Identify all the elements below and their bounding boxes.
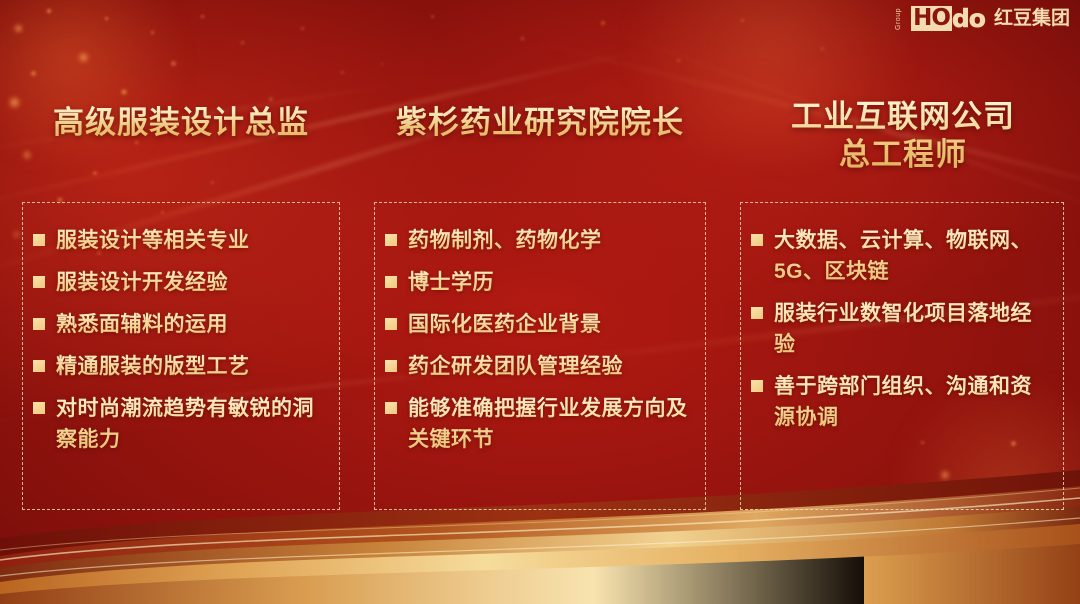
brand-logo: Group HO do 红豆集团	[895, 6, 1070, 31]
square-bullet-icon	[385, 318, 397, 330]
requirement-text: 国际化医药企业背景	[408, 309, 602, 340]
requirement-item: 能够准确把握行业发展方向及关键环节	[385, 393, 695, 455]
square-bullet-icon	[33, 360, 45, 372]
requirement-text: 能够准确把握行业发展方向及关键环节	[408, 393, 695, 455]
logo-group-text: Group	[895, 8, 902, 30]
requirement-text: 服装行业数智化项目落地经验	[774, 298, 1053, 360]
requirement-item: 精通服装的版型工艺	[33, 351, 329, 382]
requirements-list-1: 服装设计等相关专业服装设计开发经验熟悉面辅料的运用精通服装的版型工艺 对时尚潮流…	[33, 225, 329, 455]
requirement-text: 善于跨部门组织、沟通和资源协调	[774, 371, 1053, 433]
requirement-item: 服装行业数智化项目落地经验	[751, 298, 1053, 360]
square-bullet-icon	[751, 380, 763, 392]
square-bullet-icon	[751, 307, 763, 319]
requirement-item: 对时尚潮流趋势有敏锐的洞察能力	[33, 393, 329, 455]
requirement-item: 服装设计等相关专业	[33, 225, 329, 256]
sparkle-particle	[974, 584, 980, 590]
slide-canvas: Group HO do 红豆集团 高级服装设计总监 紫杉药业研究院院长 工业互联…	[0, 0, 1080, 604]
column-title-1: 高级服装设计总监	[22, 104, 340, 142]
requirement-text: 大数据、云计算、物联网、5G、区块链	[774, 225, 1053, 287]
requirement-item: 善于跨部门组织、沟通和资源协调	[751, 371, 1053, 433]
square-bullet-icon	[33, 234, 45, 246]
requirement-item: 药物制剂、药物化学	[385, 225, 695, 256]
square-bullet-icon	[385, 276, 397, 288]
requirement-text: 服装设计开发经验	[56, 267, 228, 298]
square-bullet-icon	[751, 234, 763, 246]
requirement-item: 博士学历	[385, 267, 695, 298]
requirement-text: 精通服装的版型工艺	[56, 351, 250, 382]
requirement-item: 药企研发团队管理经验	[385, 351, 695, 382]
requirement-text: 博士学历	[408, 267, 494, 298]
requirements-panel-2: 药物制剂、药物化学博士学历国际化医药企业背景药企研发团队管理经验 能够准确把握行…	[374, 202, 706, 510]
logo-company-name-cn: 红豆集团	[994, 6, 1070, 31]
logo-hodo-mark: HO do	[911, 6, 985, 31]
square-bullet-icon	[385, 234, 397, 246]
column-title-2: 紫杉药业研究院院长	[374, 104, 706, 142]
square-bullet-icon	[385, 402, 397, 414]
requirements-panel-3: 大数据、云计算、物联网、5G、区块链 服装行业数智化项目落地经验 善于跨部门组织…	[740, 202, 1064, 510]
requirement-text: 对时尚潮流趋势有敏锐的洞察能力	[56, 393, 329, 455]
requirement-text: 熟悉面辅料的运用	[56, 309, 228, 340]
column-title-3: 工业互联网公司总工程师	[742, 98, 1064, 174]
requirement-text: 服装设计等相关专业	[56, 225, 250, 256]
requirement-text: 药物制剂、药物化学	[408, 225, 602, 256]
requirements-panel-1: 服装设计等相关专业服装设计开发经验熟悉面辅料的运用精通服装的版型工艺 对时尚潮流…	[22, 202, 340, 510]
requirement-text: 药企研发团队管理经验	[408, 351, 623, 382]
sparkle-particle	[1052, 586, 1057, 591]
sparkle-particle	[896, 576, 903, 583]
logo-hodo-solid: HO	[911, 6, 952, 31]
requirement-item: 服装设计开发经验	[33, 267, 329, 298]
sparkle-particle	[1030, 562, 1039, 571]
sparkle-particle	[958, 546, 969, 557]
square-bullet-icon	[385, 360, 397, 372]
square-bullet-icon	[33, 402, 45, 414]
sparkle-particle	[908, 528, 914, 534]
square-bullet-icon	[33, 318, 45, 330]
requirement-item: 大数据、云计算、物联网、5G、区块链	[751, 225, 1053, 287]
requirements-list-2: 药物制剂、药物化学博士学历国际化医药企业背景药企研发团队管理经验 能够准确把握行…	[385, 225, 695, 455]
requirement-item: 国际化医药企业背景	[385, 309, 695, 340]
requirement-item: 熟悉面辅料的运用	[33, 309, 329, 340]
sparkle-particle	[1062, 528, 1068, 534]
logo-hodo-outline: do	[952, 6, 985, 31]
square-bullet-icon	[33, 276, 45, 288]
sparkle-particle	[860, 560, 865, 565]
sparkle-particle	[1008, 588, 1013, 593]
requirements-list-3: 大数据、云计算、物联网、5G、区块链 服装行业数智化项目落地经验 善于跨部门组织…	[751, 225, 1053, 433]
sparkle-particle	[12, 230, 21, 239]
